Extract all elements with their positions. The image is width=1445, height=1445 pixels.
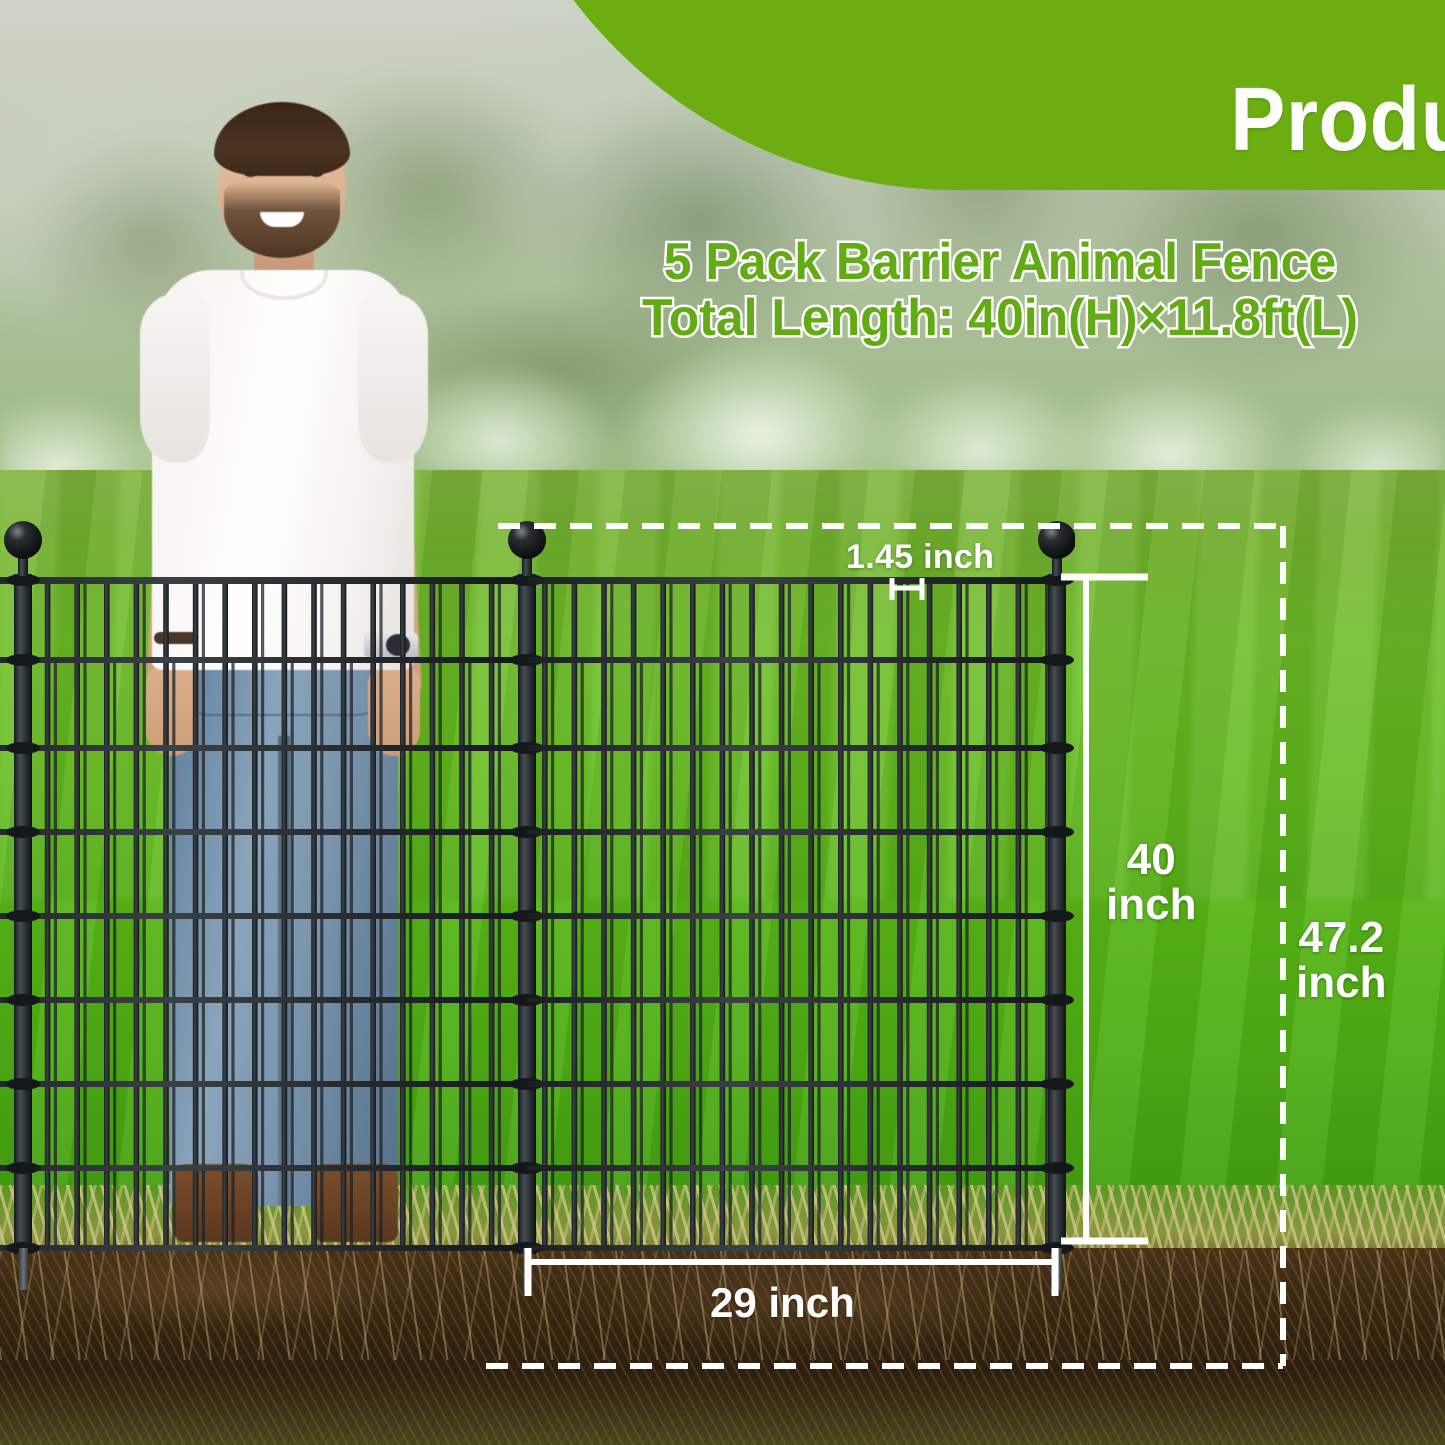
page-title: Product Sizes xyxy=(1230,69,1445,172)
ground-stake xyxy=(523,1248,532,1290)
post-clamp xyxy=(1040,1162,1074,1174)
fence-rail xyxy=(528,745,1058,751)
fence-rail xyxy=(0,829,528,835)
fence-rail xyxy=(528,1081,1058,1087)
fence-rail xyxy=(0,657,528,663)
fence-rail xyxy=(0,745,528,751)
hair xyxy=(214,102,350,176)
fence-rail xyxy=(528,997,1058,1003)
fence-rail xyxy=(528,913,1058,919)
post-clamp xyxy=(1040,742,1074,754)
ball-finial xyxy=(508,521,546,559)
fence-rail xyxy=(0,997,528,1003)
subtitle-line-1: 5 Pack Barrier Animal Fence xyxy=(578,234,1423,290)
post-clamp xyxy=(6,742,40,754)
eye-left xyxy=(244,170,257,177)
sleeve-right xyxy=(358,294,428,462)
post-clamp xyxy=(1040,1078,1074,1090)
fence-rail xyxy=(528,829,1058,835)
post-clamp xyxy=(6,910,40,922)
product-infographic: Product Sizes 5 Pack Barrier Animal Fenc… xyxy=(0,0,1445,1445)
fence-rail xyxy=(528,657,1058,663)
eye-right xyxy=(310,170,323,177)
fence-rail xyxy=(0,577,528,584)
post-clamp xyxy=(1040,910,1074,922)
fence-rail xyxy=(528,1245,1058,1251)
post-clamp xyxy=(1040,826,1074,838)
post-clamp xyxy=(6,826,40,838)
post-clamp xyxy=(1040,654,1074,666)
post-clamp xyxy=(6,654,40,666)
fence-rail xyxy=(528,577,1058,584)
post-clamp xyxy=(6,1162,40,1174)
subtitle-line-2: Total Length: 40in(H)×11.8ft(L) xyxy=(578,290,1423,346)
post-clamp xyxy=(6,994,40,1006)
fence-panels xyxy=(0,520,1075,1290)
fence-rail xyxy=(0,913,528,919)
fence-rail xyxy=(0,1245,528,1251)
post-clamp xyxy=(1040,994,1074,1006)
fence-rail xyxy=(0,1081,528,1087)
product-subtitle: 5 Pack Barrier Animal Fence Total Length… xyxy=(578,234,1423,346)
sleeve-left xyxy=(140,294,210,462)
ground-stake xyxy=(1053,1248,1062,1290)
fence-rail xyxy=(528,1165,1058,1171)
ground-stake xyxy=(19,1248,28,1290)
ball-finial xyxy=(4,521,42,559)
ball-finial xyxy=(1038,521,1075,559)
fence-rail xyxy=(0,1165,528,1171)
post-clamp xyxy=(6,1078,40,1090)
